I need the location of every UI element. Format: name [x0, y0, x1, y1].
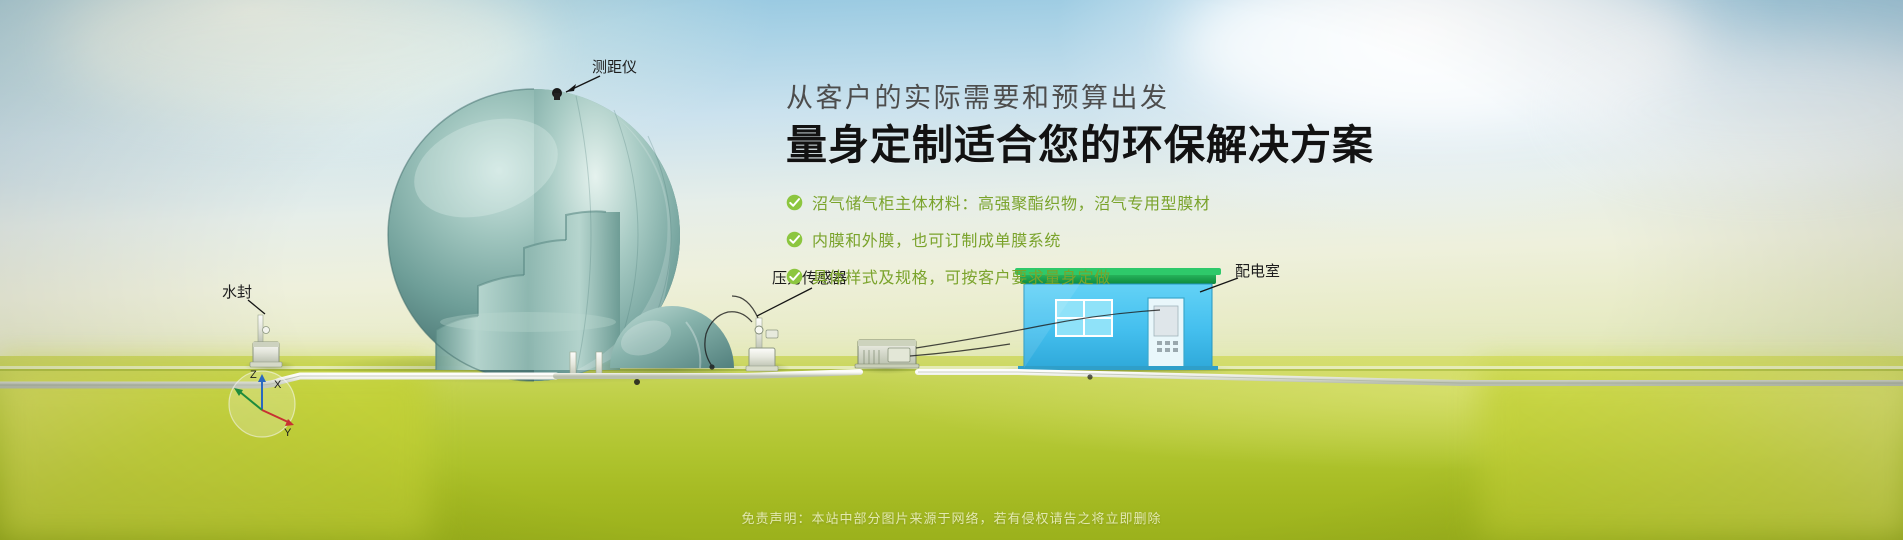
label-rangefinder: 测距仪: [592, 59, 637, 76]
check-circle-icon: [786, 268, 803, 285]
water-seal-unit: [244, 315, 296, 372]
feature-text: 具体样式及规格，可按客户要求量身定做: [812, 264, 1111, 288]
label-water-seal: 水封: [222, 284, 252, 301]
list-item: 内膜和外膜，也可订制成单膜系统: [786, 227, 1426, 251]
promo-kicker: 从客户的实际需要和预算出发: [786, 82, 1426, 114]
water-seal-callout: 水封: [222, 284, 265, 314]
rangefinder-callout: 测距仪: [566, 59, 637, 92]
disclaimer-text: 免责声明：本站中部分图片来源于网络，若有侵权请告之将立即删除: [0, 508, 1903, 527]
pressure-sensor-unit: [742, 318, 790, 374]
promo-copy: 从客户的实际需要和预算出发 量身定制适合您的环保解决方案 沼气储气柜主体材料：高…: [786, 82, 1426, 301]
check-circle-icon: [786, 194, 803, 211]
axis-label-y: Y: [284, 427, 292, 439]
banner-stage: 测距仪 水封: [0, 0, 1903, 540]
axis-label-z: Z: [250, 369, 257, 381]
promo-headline: 量身定制适合您的环保解决方案: [786, 123, 1426, 169]
feature-list: 沼气储气柜主体材料：高强聚酯织物，沼气专用型膜材 内膜和外膜，也可订制成单膜系统…: [786, 190, 1426, 288]
blower-machine: [852, 340, 920, 374]
list-item: 沼气储气柜主体材料：高强聚酯织物，沼气专用型膜材: [786, 190, 1426, 214]
axis-label-x: X: [274, 379, 282, 391]
check-circle-icon: [786, 231, 803, 248]
feature-text: 内膜和外膜，也可订制成单膜系统: [812, 227, 1061, 251]
feature-text: 沼气储气柜主体材料：高强聚酯织物，沼气专用型膜材: [812, 190, 1210, 214]
list-item: 具体样式及规格，可按客户要求量身定做: [786, 264, 1426, 288]
